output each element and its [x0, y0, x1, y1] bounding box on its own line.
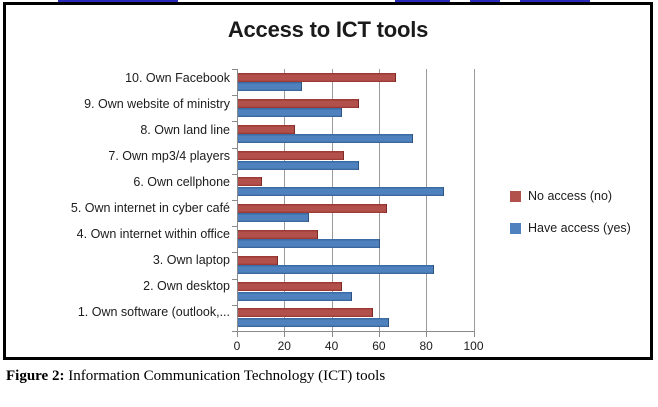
y-tick-7 — [232, 252, 237, 253]
y-tick-6 — [232, 226, 237, 227]
gridline-80 — [426, 69, 427, 331]
figure-caption-label: Figure 2: — [6, 368, 64, 384]
y-tick-1 — [232, 95, 237, 96]
x-tick-80 — [426, 331, 427, 337]
bar-no-access-cat6 — [238, 177, 262, 186]
x-axis-line — [237, 331, 475, 332]
x-tick-label-60: 60 — [359, 339, 399, 353]
y-tick-0 — [232, 69, 237, 70]
y-axis-label-8: 8. Own land line — [140, 117, 230, 143]
bar-have-access-cat1 — [238, 318, 389, 327]
y-axis-label-5: 5. Own internet in cyber café — [71, 195, 230, 221]
y-axis-label-9: 9. Own website of ministry — [84, 91, 230, 117]
y-axis-label-3: 3. Own laptop — [153, 247, 230, 273]
bar-have-access-cat3 — [238, 265, 434, 274]
gridline-60 — [379, 69, 380, 331]
bar-have-access-cat6 — [238, 187, 444, 196]
bar-no-access-cat9 — [238, 99, 359, 108]
x-tick-40 — [332, 331, 333, 337]
legend-swatch-blue — [510, 223, 521, 234]
x-tick-0 — [237, 331, 238, 337]
figure-caption: Figure 2: Information Communication Tech… — [6, 368, 385, 385]
bar-no-access-cat7 — [238, 151, 344, 160]
x-tick-label-0: 0 — [217, 339, 257, 353]
bar-no-access-cat10 — [238, 73, 396, 82]
plot-area: 0 20 40 60 80 100 — [237, 69, 477, 331]
y-tick-3 — [232, 148, 237, 149]
y-axis-label-4: 4. Own internet within office — [77, 221, 230, 247]
bar-have-access-cat9 — [238, 108, 342, 117]
y-tick-2 — [232, 121, 237, 122]
bar-no-access-cat3 — [238, 256, 278, 265]
x-tick-60 — [379, 331, 380, 337]
y-axis-label-7: 7. Own mp3/4 players — [108, 143, 230, 169]
x-tick-100 — [474, 331, 475, 337]
x-tick-label-20: 20 — [264, 339, 304, 353]
legend-item-no-access: No access (no) — [510, 189, 650, 203]
bar-no-access-cat8 — [238, 125, 295, 134]
x-tick-20 — [284, 331, 285, 337]
y-tick-9 — [232, 305, 237, 306]
bar-have-access-cat7 — [238, 161, 359, 170]
legend-label-no-access: No access (no) — [528, 189, 612, 203]
legend-item-have-access: Have access (yes) — [510, 221, 650, 235]
y-tick-5 — [232, 200, 237, 201]
bar-no-access-cat4 — [238, 230, 318, 239]
legend-label-have-access: Have access (yes) — [528, 221, 631, 235]
bar-have-access-cat4 — [238, 239, 380, 248]
x-tick-label-100: 100 — [454, 339, 494, 353]
y-tick-8 — [232, 279, 237, 280]
bar-have-access-cat8 — [238, 134, 413, 143]
chart-legend: No access (no) Have access (yes) — [510, 189, 650, 253]
bar-no-access-cat1 — [238, 308, 373, 317]
y-tick-10 — [232, 331, 237, 332]
figure-page: Access to ICT tools 10. Own Facebook 9. … — [0, 0, 658, 407]
x-tick-label-80: 80 — [406, 339, 446, 353]
y-axis-label-10: 10. Own Facebook — [125, 65, 230, 91]
y-axis-label-2: 2. Own desktop — [143, 273, 230, 299]
bar-no-access-cat2 — [238, 282, 342, 291]
bar-have-access-cat5 — [238, 213, 309, 222]
figure-caption-text: Information Communication Technology (IC… — [64, 368, 385, 384]
y-axis-label-6: 6. Own cellphone — [133, 169, 230, 195]
y-axis-category-labels: 10. Own Facebook 9. Own website of minis… — [6, 65, 234, 330]
figure-border: Access to ICT tools 10. Own Facebook 9. … — [3, 2, 653, 360]
gridline-100 — [474, 69, 475, 331]
bar-have-access-cat2 — [238, 292, 352, 301]
chart-title: Access to ICT tools — [6, 17, 650, 43]
bar-have-access-cat10 — [238, 82, 302, 91]
y-tick-4 — [232, 174, 237, 175]
bar-no-access-cat5 — [238, 204, 387, 213]
x-tick-label-40: 40 — [312, 339, 352, 353]
y-axis-label-1: 1. Own software (outlook,... — [78, 299, 230, 325]
legend-swatch-red — [510, 191, 521, 202]
chart-plot-wrapper: 10. Own Facebook 9. Own website of minis… — [6, 65, 650, 355]
